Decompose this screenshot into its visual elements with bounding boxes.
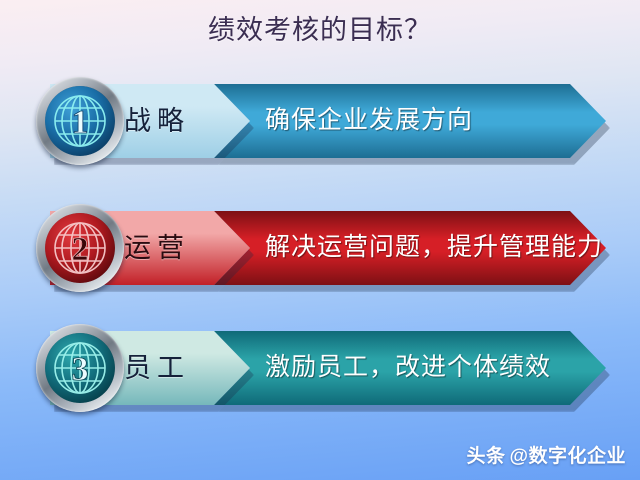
globe-badge[interactable]: 3 — [36, 324, 124, 412]
goal-statement-text: 确保企业发展方向 — [265, 84, 473, 158]
watermark: 头条@数字化企业 — [466, 441, 626, 468]
goal-category-label: 员工 — [124, 331, 190, 405]
goal-row: 确保企业发展方向 战略 — [0, 74, 640, 170]
page-title: 绩效考核的目标？ — [0, 8, 640, 47]
globe-number: 3 — [72, 351, 89, 388]
slide-canvas: 绩效考核的目标？ 确保企业发展方向 战略 — [0, 0, 640, 480]
globe-icon: 2 — [45, 213, 115, 283]
goal-category-label: 战略 — [124, 84, 190, 158]
goal-category-label: 运营 — [124, 211, 190, 285]
globe-icon: 3 — [45, 333, 115, 403]
goal-statement-text: 解决运营问题，提升管理能力 — [265, 211, 603, 285]
goal-row: 解决运营问题，提升管理能力 运营 — [0, 201, 640, 297]
globe-badge[interactable]: 1 — [36, 77, 124, 165]
watermark-handle: @数字化企业 — [509, 446, 626, 467]
goal-statement-text: 激励员工，改进个体绩效 — [265, 331, 551, 405]
globe-number: 1 — [72, 104, 89, 141]
globe-icon: 1 — [45, 86, 115, 156]
globe-number: 2 — [72, 231, 89, 268]
globe-badge[interactable]: 2 — [36, 204, 124, 292]
goal-row: 激励员工，改进个体绩效 员工 — [0, 321, 640, 417]
watermark-tag: 头条 — [466, 446, 505, 467]
